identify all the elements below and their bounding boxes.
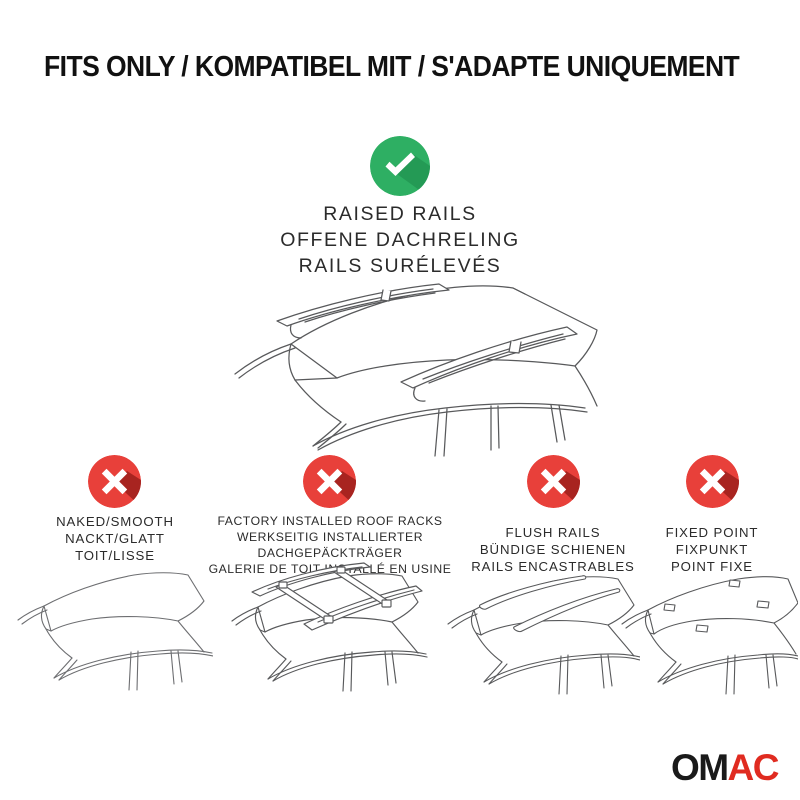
page-title: FITS ONLY / KOMPATIBEL MIT / S'ADAPTE UN… [44,52,732,83]
label-naked-smooth: NAKED/SMOOTH NACKT/GLATT TOIT/LISSE [15,514,215,565]
x-circle-icon-flush-rails [527,455,580,508]
car-roof-factory-racks-illustration [218,562,433,702]
car-roof-fixed-point-illustration [618,570,798,700]
car-roof-naked-smooth-illustration [8,568,213,698]
compatible-label: RAISED RAILS OFFENE DACHRELING RAILS SUR… [200,202,600,280]
car-roof-raised-rails-illustration [195,278,615,458]
x-circle-icon-naked-smooth [88,455,141,508]
label-fixed-point: FIXED POINT FIXPUNKT POINT FIXE [636,525,788,576]
x-circle-icon-fixed-point [686,455,739,508]
logo-text-om: OM [671,747,728,788]
x-circle-icon-factory-racks [303,455,356,508]
label-flush-rails: FLUSH RAILS BÜNDIGE SCHIENEN RAILS ENCAS… [455,525,651,576]
car-roof-flush-rails-illustration [440,570,640,700]
check-circle-icon [370,136,430,196]
logo-text-ac: AC [728,747,778,788]
fitment-chart: FITS ONLY / KOMPATIBEL MIT / S'ADAPTE UN… [0,0,800,800]
omac-logo: OMAC [671,749,778,786]
